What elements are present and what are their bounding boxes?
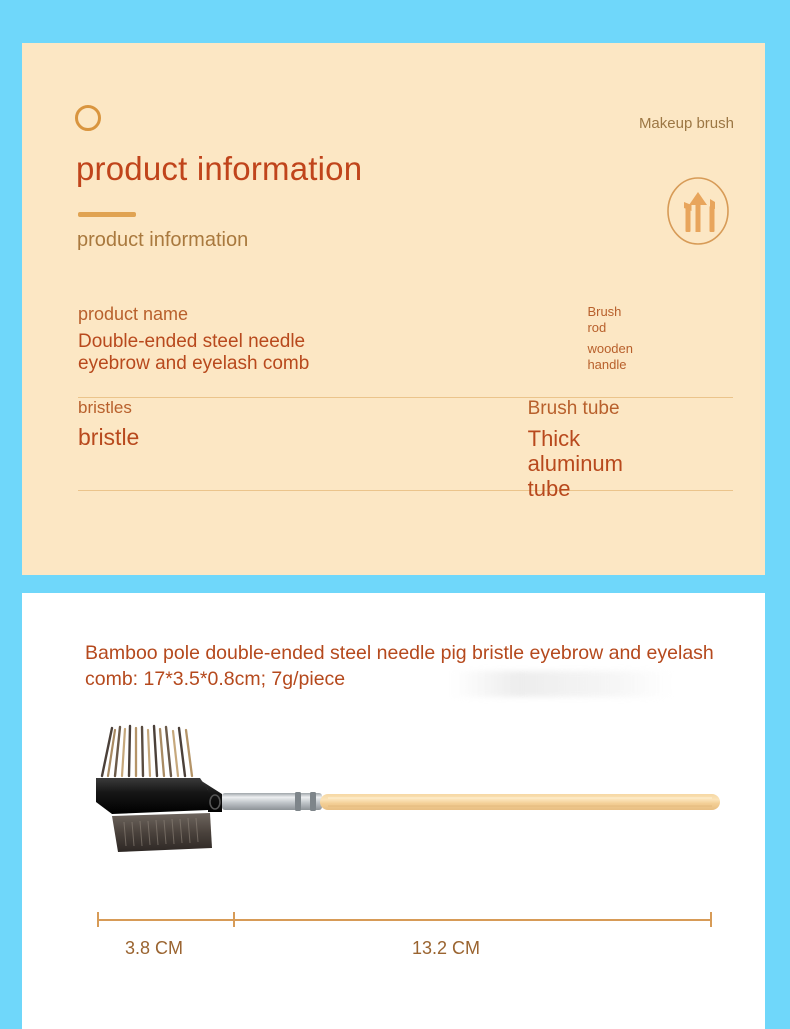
page-subtitle: product information: [77, 229, 248, 252]
spec-cell-product-name: product name Double-ended steel needle e…: [78, 304, 309, 374]
spec-key: product name: [78, 304, 309, 325]
table-row: bristles bristle Brush tube Thick alumin…: [78, 398, 733, 491]
ruler-tick-start: [97, 912, 99, 927]
spec-cell-brush-tube: Brush tube Thick aluminum tube: [528, 398, 623, 502]
dimension-label-handle: 13.2 CM: [412, 938, 480, 959]
spec-key: bristles: [78, 398, 139, 418]
ruler-tick-middle: [233, 912, 235, 927]
makeup-brush-badge-icon: [661, 174, 735, 248]
circle-outline-icon: [75, 105, 101, 131]
spec-value: wooden handle: [587, 341, 633, 374]
title-underline: [78, 212, 136, 217]
ruler-tick-end: [710, 912, 712, 927]
product-photo-panel: Bamboo pole double-ended steel needle pi…: [22, 593, 765, 1029]
spec-key: Brush tube: [528, 398, 623, 420]
page-title: product information: [76, 150, 362, 188]
table-row: product name Double-ended steel needle e…: [78, 304, 733, 398]
ruler-line: [97, 919, 712, 921]
spec-key: Brush rod: [587, 304, 633, 335]
spec-value: Double-ended steel needle eyebrow and ey…: [78, 331, 309, 375]
watermark-artifact: [452, 671, 672, 697]
brand-label: Makeup brush: [639, 115, 734, 132]
dimension-label-head: 3.8 CM: [125, 938, 183, 959]
product-information-panel: product information product information …: [22, 43, 765, 575]
spec-value: bristle: [78, 424, 139, 450]
product-image: [82, 718, 742, 893]
spec-cell-brush-rod: Brush rod wooden handle: [587, 304, 633, 374]
specification-table: product name Double-ended steel needle e…: [78, 304, 733, 491]
spec-cell-bristles: bristles bristle: [78, 398, 139, 450]
spec-value: Thick aluminum tube: [528, 426, 623, 502]
dimension-ruler: 3.8 CM 13.2 CM: [97, 911, 712, 971]
